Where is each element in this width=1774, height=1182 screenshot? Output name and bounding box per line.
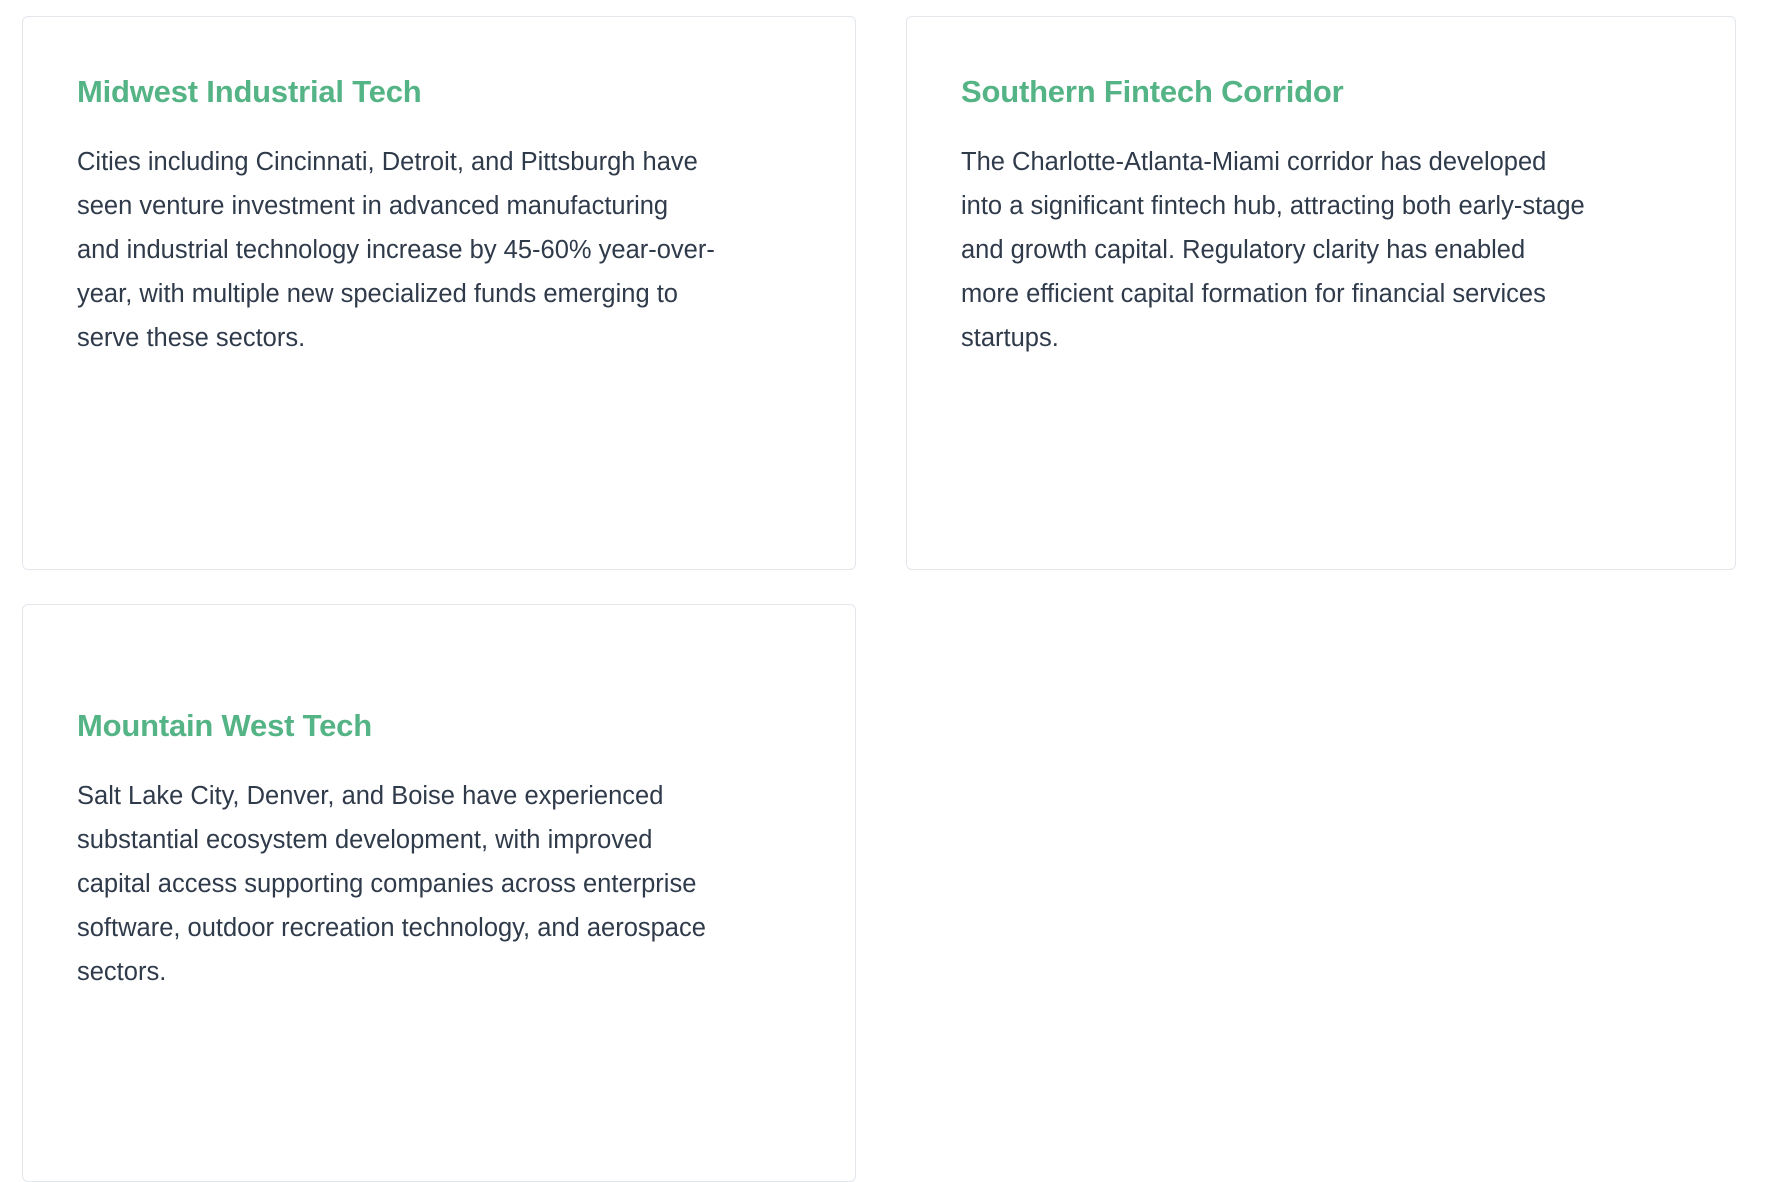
regional-highlights-card-grid: Midwest Industrial Tech Cities including… — [0, 0, 1774, 1182]
card-body-text: Salt Lake City, Denver, and Boise have e… — [77, 744, 717, 994]
card-mountain-west-tech: Mountain West Tech Salt Lake City, Denve… — [22, 604, 856, 1182]
card-midwest-industrial-tech: Midwest Industrial Tech Cities including… — [22, 16, 856, 570]
card-title: Midwest Industrial Tech — [77, 73, 803, 110]
card-title: Mountain West Tech — [77, 707, 803, 744]
card-body-text: The Charlotte-Atlanta-Miami corridor has… — [961, 110, 1589, 360]
card-title: Southern Fintech Corridor — [961, 73, 1683, 110]
card-body-text: Cities including Cincinnati, Detroit, an… — [77, 110, 717, 360]
card-southern-fintech-corridor: Southern Fintech Corridor The Charlotte-… — [906, 16, 1736, 570]
